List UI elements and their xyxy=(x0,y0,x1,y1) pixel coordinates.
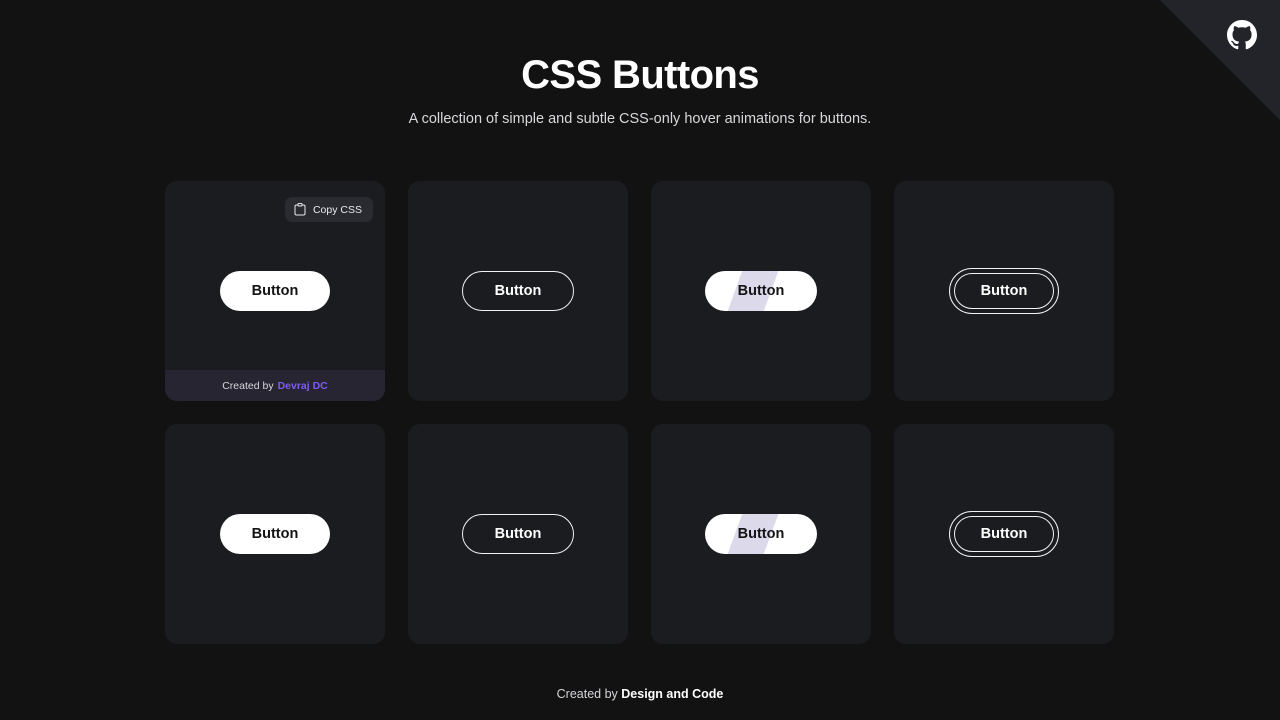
button-card-8: Button xyxy=(894,424,1114,644)
github-corner-link[interactable] xyxy=(1160,0,1280,120)
button-card-3: Button xyxy=(651,181,871,401)
clipboard-icon xyxy=(294,203,306,216)
github-icon xyxy=(1227,20,1257,50)
button-card-4: Button xyxy=(894,181,1114,401)
button-label: Button xyxy=(738,526,785,542)
demo-button-shine-1[interactable]: Button xyxy=(705,271,817,311)
demo-button-ring-1[interactable]: Button xyxy=(954,273,1054,309)
demo-button-outline-1[interactable]: Button xyxy=(462,271,574,311)
footer-prefix: Created by xyxy=(557,687,618,701)
button-showcase-grid: Copy CSS Button Created by Devraj DC But… xyxy=(165,181,1115,644)
page-header: CSS Buttons A collection of simple and s… xyxy=(0,0,1280,127)
button-card-5: Button xyxy=(165,424,385,644)
button-label: Button xyxy=(495,526,542,542)
page-footer: Created by Design and Code xyxy=(0,687,1280,701)
page-subtitle: A collection of simple and subtle CSS-on… xyxy=(0,111,1280,127)
copy-css-button[interactable]: Copy CSS xyxy=(285,197,373,222)
demo-button-ring-2[interactable]: Button xyxy=(954,516,1054,552)
demo-button-outline-2[interactable]: Button xyxy=(462,514,574,554)
button-card-6: Button xyxy=(408,424,628,644)
demo-button-solid-1[interactable]: Button xyxy=(220,271,330,311)
demo-button-solid-2[interactable]: Button xyxy=(220,514,330,554)
corner-ribbon-triangle xyxy=(1160,0,1280,120)
button-label: Button xyxy=(495,283,542,299)
button-label: Button xyxy=(738,283,785,299)
footer-brand: Design and Code xyxy=(621,687,723,701)
button-label: Button xyxy=(252,283,299,299)
button-label: Button xyxy=(252,526,299,542)
card-credit-bar: Created by Devraj DC xyxy=(165,370,385,401)
button-label: Button xyxy=(981,526,1028,542)
demo-button-shine-2[interactable]: Button xyxy=(705,514,817,554)
button-card-1: Copy CSS Button Created by Devraj DC xyxy=(165,181,385,401)
page-title: CSS Buttons xyxy=(0,52,1280,99)
credit-prefix: Created by xyxy=(222,380,273,392)
copy-css-label: Copy CSS xyxy=(313,204,362,216)
button-label: Button xyxy=(981,283,1028,299)
button-card-7: Button xyxy=(651,424,871,644)
credit-author-link[interactable]: Devraj DC xyxy=(278,380,328,392)
button-card-2: Button xyxy=(408,181,628,401)
